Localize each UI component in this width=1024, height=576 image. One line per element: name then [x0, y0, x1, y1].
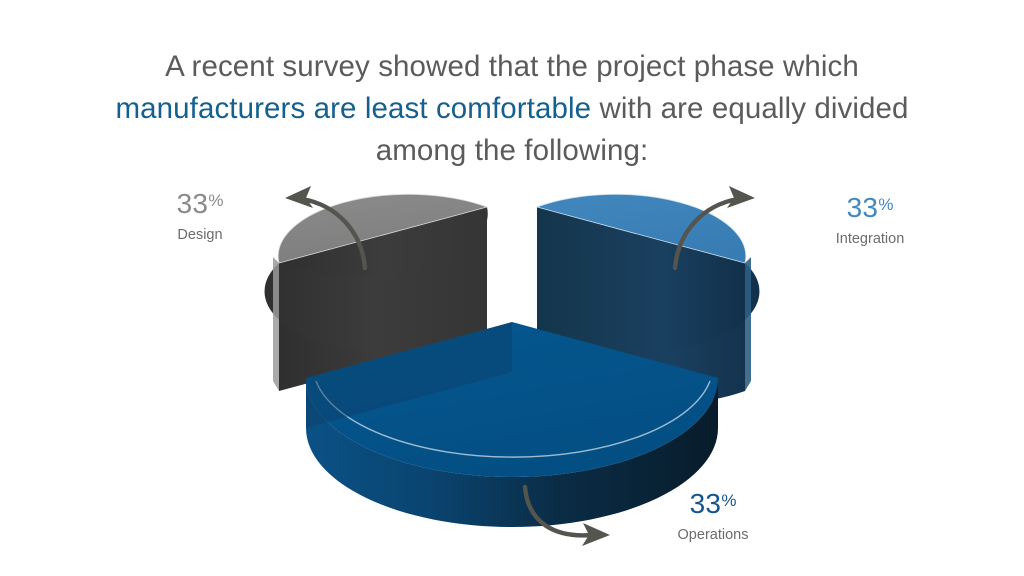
integration-slice-highlight [745, 257, 751, 391]
design-arrowhead-icon [285, 186, 313, 208]
callout-operations: 33% Operations [648, 486, 778, 545]
integration-label: Integration [800, 229, 940, 249]
callout-design: 33% Design [140, 186, 260, 245]
callout-integration: 33% Integration [800, 190, 940, 249]
operations-percent-symbol: % [721, 491, 736, 510]
design-slice-highlight [273, 257, 279, 391]
slide-canvas: A recent survey showed that the project … [0, 0, 1024, 576]
operations-percent: 33% [648, 486, 778, 519]
design-percent-value: 33 [177, 188, 209, 219]
design-percent: 33% [140, 186, 260, 219]
operations-percent-value: 33 [690, 488, 722, 519]
design-label: Design [140, 225, 260, 245]
integration-arrowhead-icon [727, 186, 755, 208]
integration-percent: 33% [800, 190, 940, 223]
integration-percent-value: 33 [847, 192, 879, 223]
design-percent-symbol: % [208, 191, 223, 210]
integration-percent-symbol: % [878, 195, 893, 214]
operations-label: Operations [648, 525, 778, 545]
pie-chart-3d [0, 0, 1024, 576]
